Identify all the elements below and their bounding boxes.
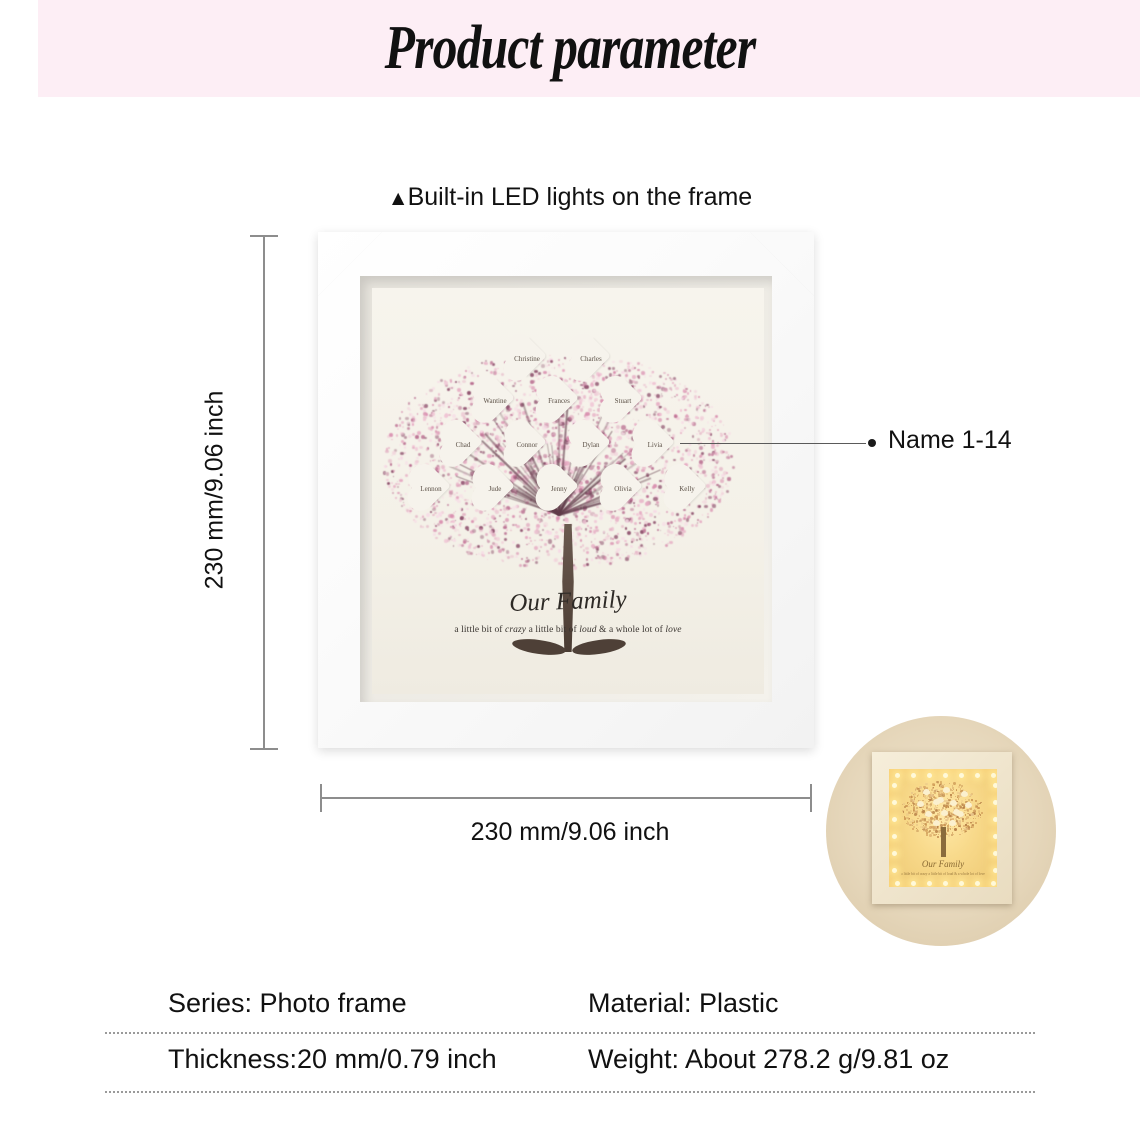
heart-tag-name: Livia: [623, 442, 687, 449]
height-dimension-label: 230 mm/9.06 inch: [201, 391, 230, 590]
photo-frame-product-image: ChristineCharlesWantineFrancesStuartChad…: [318, 232, 814, 748]
led-dot-icon: [892, 868, 897, 873]
inset-our-family-script: Our Family: [889, 859, 997, 869]
led-dot-icon: [993, 817, 997, 822]
heart-tag-name: Connor: [495, 442, 559, 449]
width-dimension-line: [320, 797, 812, 799]
spec-row: Thickness:20 mm/0.79 inch Weight: About …: [0, 1031, 1140, 1087]
inset-heart-tag: [961, 791, 968, 797]
led-dot-icon: [975, 773, 980, 778]
inset-tree-trunk: [941, 827, 946, 857]
spec-weight: Weight: About 278.2 g/9.81 oz: [588, 1031, 949, 1087]
led-caption-text: Built-in LED lights on the frame: [408, 183, 753, 211]
led-dot-icon: [993, 868, 997, 873]
tree-root-right: [571, 636, 626, 657]
led-dot-icon: [993, 800, 997, 805]
heart-tag-name: Jude: [463, 486, 527, 493]
inset-heart-tag: [950, 800, 957, 806]
spec-table: Series: Photo frame Material: Plastic Th…: [0, 975, 1140, 1087]
heart-tag-name: Stuart: [591, 398, 655, 405]
led-dot-icon: [959, 773, 964, 778]
spec-material: Material: Plastic: [588, 975, 779, 1031]
led-dot-icon: [895, 773, 900, 778]
led-dot-icon: [993, 851, 997, 856]
inset-frame-border: Our Family a little bit of crazy a littl…: [872, 752, 1012, 904]
heart-tag-name: Dylan: [559, 442, 623, 449]
inset-heart-tag: [925, 811, 932, 817]
inset-heart-tag: [941, 810, 948, 816]
spec-series: Series: Photo frame: [168, 975, 407, 1031]
led-dot-icon: [892, 800, 897, 805]
led-dot-icon: [993, 834, 997, 839]
led-dot-icon: [993, 783, 997, 788]
heart-tag-name: Lennon: [399, 486, 463, 493]
led-dot-icon: [892, 851, 897, 856]
artwork-tagline: a little bit of crazy a little bit of lo…: [372, 625, 764, 635]
heart-tag-name: Jenny: [527, 486, 591, 493]
heart-tag-name: Olivia: [591, 486, 655, 493]
led-dot-icon: [892, 817, 897, 822]
led-dot-icon: [927, 881, 932, 886]
led-dot-icon: [959, 881, 964, 886]
inset-heart-tag: [949, 820, 956, 826]
spec-thickness: Thickness:20 mm/0.79 inch: [168, 1031, 497, 1087]
inset-heart-tag: [965, 802, 972, 808]
led-lit-frame-inset-photo: Our Family a little bit of crazy a littl…: [826, 716, 1056, 946]
inset-heart-tag: [917, 801, 924, 807]
led-caption: ▲Built-in LED lights on the frame: [0, 183, 1140, 212]
heart-tag-name: Kelly: [655, 486, 719, 493]
inset-heart-tag: [937, 797, 944, 803]
name-callout-leader-line: [680, 443, 866, 444]
led-dot-icon: [991, 881, 996, 886]
inset-heart-tag: [953, 809, 960, 815]
led-dot-icon: [895, 881, 900, 886]
product-parameter-infographic: Product parameter ▲Built-in LED lights o…: [0, 0, 1140, 1140]
led-dot-icon: [892, 783, 897, 788]
spec-divider: [105, 1032, 1035, 1034]
family-tree-illustration: ChristineCharlesWantineFrancesStuartChad…: [372, 288, 764, 694]
heart-tag-name: Chad: [431, 442, 495, 449]
heart-tag-name: Christine: [495, 356, 559, 363]
inset-tagline: a little bit of crazy a little bit of lo…: [889, 872, 997, 876]
frame-inner-wall: ChristineCharlesWantineFrancesStuartChad…: [360, 276, 772, 702]
heart-tag-name: Charles: [559, 356, 623, 363]
led-dot-icon: [943, 881, 948, 886]
inset-heart-tag: [923, 789, 930, 795]
height-dimension-line: [263, 235, 265, 750]
inset-heart-tag: [943, 787, 950, 793]
heart-tag-name: Frances: [527, 398, 591, 405]
inset-heart-tag: [933, 820, 940, 826]
triangle-marker-icon: ▲: [388, 187, 408, 210]
led-dot-icon: [927, 773, 932, 778]
page-title: Product parameter: [114, 0, 1026, 97]
led-dot-icon: [943, 773, 948, 778]
spec-divider: [105, 1091, 1035, 1093]
heart-tag-name: Wantine: [463, 398, 527, 405]
spec-row: Series: Photo frame Material: Plastic: [0, 975, 1140, 1031]
name-callout-label: Name 1-14: [888, 426, 1012, 455]
led-dot-icon: [991, 773, 996, 778]
led-dot-icon: [892, 834, 897, 839]
led-dot-icon: [911, 881, 916, 886]
tree-root-left: [511, 636, 566, 657]
name-callout-dot-icon: [868, 439, 876, 447]
led-dot-icon: [975, 881, 980, 886]
led-dot-icon: [911, 773, 916, 778]
inset-frame-artwork: Our Family a little bit of crazy a littl…: [889, 769, 997, 887]
frame-artwork: ChristineCharlesWantineFrancesStuartChad…: [372, 288, 764, 694]
